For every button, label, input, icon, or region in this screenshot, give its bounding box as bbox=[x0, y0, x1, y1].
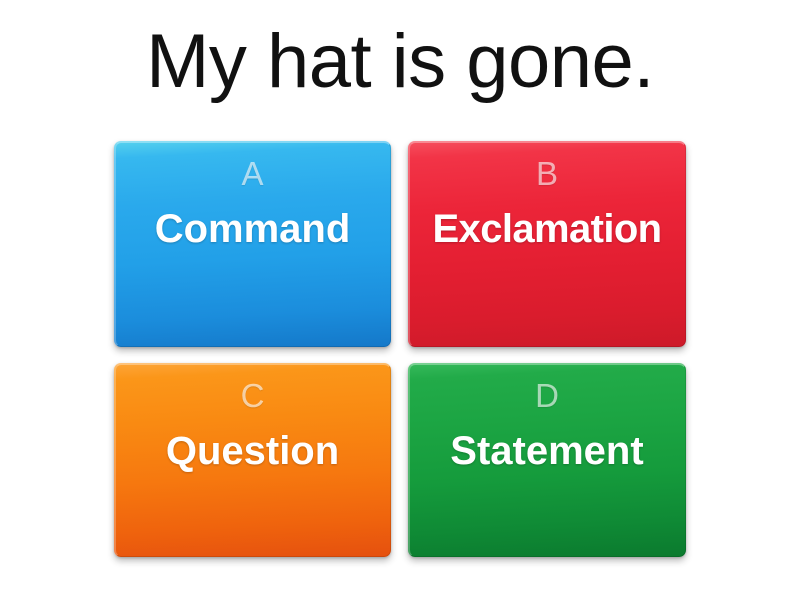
answer-letter-c: C bbox=[241, 377, 265, 414]
answer-label-b: Exclamation bbox=[432, 204, 661, 254]
answer-label-d: Statement bbox=[450, 426, 643, 476]
answer-options-grid: A Command B Exclamation C Question D Sta… bbox=[114, 141, 686, 557]
answer-card-c[interactable]: C Question bbox=[114, 363, 391, 557]
answer-letter-a: A bbox=[241, 155, 263, 192]
question-title: My hat is gone. bbox=[0, 14, 800, 110]
quiz-root: My hat is gone. A Command B Exclamation … bbox=[0, 0, 800, 600]
answer-card-b[interactable]: B Exclamation bbox=[408, 141, 686, 347]
answer-label-a: Command bbox=[155, 204, 351, 254]
answer-letter-b: B bbox=[536, 155, 558, 192]
answer-card-b-content: B Exclamation bbox=[408, 141, 686, 347]
answer-label-c: Question bbox=[166, 426, 339, 476]
answer-card-d-content: D Statement bbox=[408, 363, 686, 557]
answer-card-c-content: C Question bbox=[114, 363, 391, 557]
answer-letter-d: D bbox=[535, 377, 559, 414]
answer-card-d[interactable]: D Statement bbox=[408, 363, 686, 557]
answer-card-a-content: A Command bbox=[114, 141, 391, 347]
answer-card-a[interactable]: A Command bbox=[114, 141, 391, 347]
